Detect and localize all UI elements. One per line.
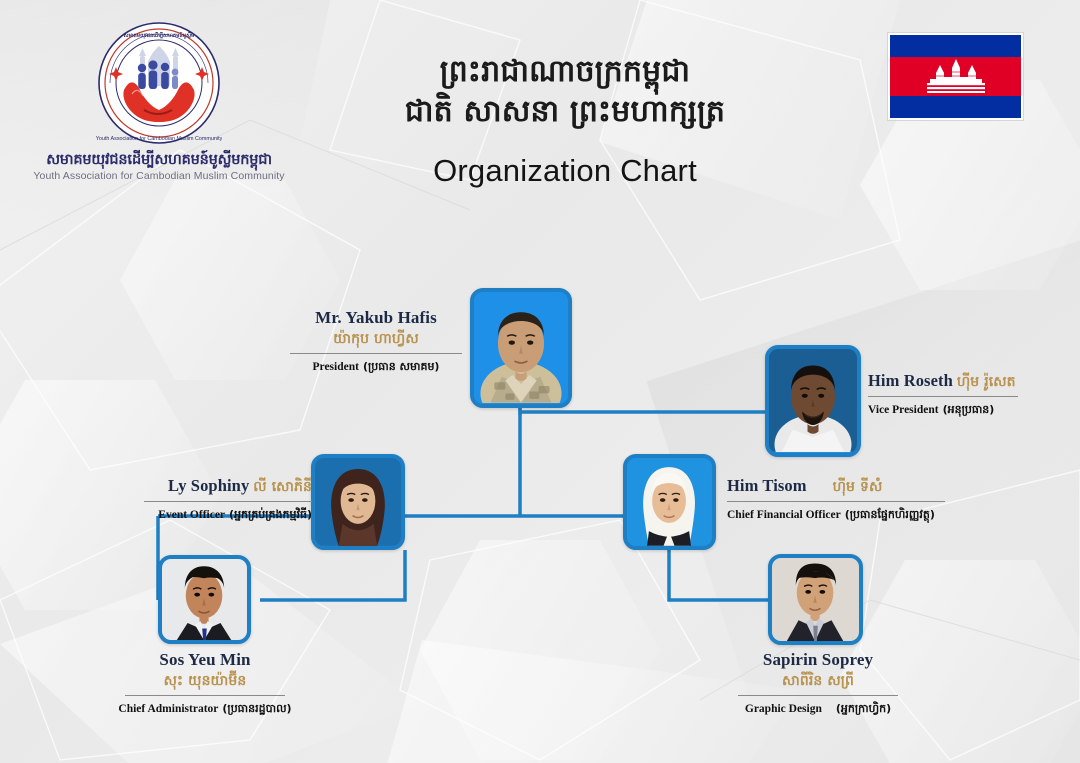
photo-cfo — [623, 454, 716, 550]
photo-chief-administrator — [158, 555, 251, 644]
graphic-design-name-kh: សាពីរិន សព្រី — [705, 671, 931, 692]
cfo-role: Chief Financial Officer (ប្រធានផ្នែកហិរញ… — [727, 505, 967, 524]
vice-president-role-en: Vice President — [868, 404, 939, 416]
cfo-name-kh: ហ៊ីម ទីសំ — [833, 479, 883, 495]
event-officer-role-kh: (អ្នកគ្រប់គ្រងកម្មវិធី) — [229, 508, 312, 521]
label-graphic-design: Sapirin Soprey សាពីរិន សព្រី Graphic Des… — [705, 650, 931, 718]
flag-stripe-middle — [890, 57, 1021, 97]
cfo-name-en: Him Tisom — [727, 476, 807, 495]
chief-administrator-role-en: Chief Administrator — [118, 703, 218, 715]
cfo-role-en: Chief Financial Officer — [727, 509, 841, 521]
graphic-design-name-en: Sapirin Soprey — [705, 650, 931, 670]
photo-graphic-design — [768, 554, 863, 645]
event-officer-name-en: Ly Sophiny — [168, 476, 249, 495]
photo-event-officer — [311, 454, 405, 550]
event-officer-name-kh: លី សោភិនី — [253, 479, 312, 495]
president-name-kh: យ៉ាកុប ហាហ្វីស — [290, 329, 462, 350]
organization-chart: Mr. Yakub Hafis យ៉ាកុប ហាហ្វីស President… — [0, 240, 1080, 763]
flag-stripe-top — [890, 35, 1021, 57]
vice-president-role-kh: (អនុប្រធាន) — [943, 403, 995, 416]
title-kh-line2: ជាតិ សាសនា ព្រះមហាក្សត្រ — [330, 92, 800, 132]
president-name-en: Mr. Yakub Hafis — [290, 308, 462, 328]
chief-administrator-role: Chief Administrator (ប្រធានរដ្ឋបាល) — [92, 699, 318, 718]
chief-administrator-name-en: Sos Yeu Min — [92, 650, 318, 670]
label-president: Mr. Yakub Hafis យ៉ាកុប ហាហ្វីស President… — [290, 308, 462, 376]
label-chief-administrator: Sos Yeu Min សុះ យុនយ៉ាម៊ីន Chief Adminis… — [92, 650, 318, 718]
vice-president-name-kh: ហ៊ីម រ៉ូសេត — [957, 374, 1016, 390]
president-role-kh: (ប្រធាន សមាគម) — [363, 360, 440, 373]
cfo-name: Him Tisom ហ៊ីម ទីសំ — [727, 476, 967, 498]
label-event-officer: Ly Sophiny លី សោភិនី Event Officer (អ្នក… — [136, 476, 312, 524]
logo-name-kh: សមាគមយុវជនដើម្បីសហគមន៍មូស្លីមកម្ពុជា — [28, 152, 290, 169]
label-divider — [738, 695, 898, 696]
label-divider — [125, 695, 285, 696]
president-role: President (ប្រធាន សមាគម) — [290, 357, 462, 376]
svg-text:Youth Association for Cambodia: Youth Association for Cambodian Muslim C… — [96, 136, 222, 142]
photo-vice-president — [765, 345, 861, 457]
graphic-design-role-en: Graphic Design — [745, 703, 822, 715]
cfo-role-kh: (ប្រធានផ្នែកហិរញ្ញវត្ថុ) — [845, 508, 935, 521]
event-officer-role-en: Event Officer — [158, 509, 225, 521]
cambodia-flag-icon — [887, 32, 1024, 121]
logo-name-en: Youth Association for Cambodian Muslim C… — [28, 170, 290, 182]
yacmc-logo-icon: សមាគមយុវជនដើម្បីសហគមន៍មូស្លីម Youth Asso… — [96, 20, 222, 146]
title-en: Organization Chart — [330, 153, 800, 189]
label-divider — [144, 501, 312, 502]
label-divider — [727, 501, 945, 502]
page-header: សមាគមយុវជនដើម្បីសហគមន៍មូស្លីម Youth Asso… — [0, 0, 1080, 240]
chief-administrator-name-kh: សុះ យុនយ៉ាម៊ីន — [92, 671, 318, 692]
svg-text:សមាគមយុវជនដើម្បីសហគមន៍មូស្លីម: សមាគមយុវជនដើម្បីសហគមន៍មូស្លីម — [124, 31, 195, 39]
graphic-design-role: Graphic Design (អ្នកក្រាហ្វិក) — [705, 699, 931, 718]
event-officer-name: Ly Sophiny លី សោភិនី — [136, 476, 312, 498]
vice-president-name: Him Roseth ហ៊ីម រ៉ូសេត — [868, 371, 1078, 393]
vice-president-role: Vice President (អនុប្រធាន) — [868, 400, 1078, 419]
flag-stripe-bottom — [890, 96, 1021, 118]
graphic-design-role-kh: (អ្នកក្រាហ្វិក) — [836, 702, 891, 715]
label-vice-president: Him Roseth ហ៊ីម រ៉ូសេត Vice President (អ… — [868, 371, 1078, 419]
organization-logo-block: សមាគមយុវជនដើម្បីសហគមន៍មូស្លីម Youth Asso… — [28, 20, 290, 182]
president-role-en: President — [313, 361, 359, 373]
photo-president — [470, 288, 572, 408]
event-officer-role: Event Officer (អ្នកគ្រប់គ្រងកម្មវិធី) — [136, 505, 312, 524]
page-title: ព្រះរាជាណាចក្រកម្ពុជា ជាតិ សាសនា ព្រះមហា… — [330, 52, 800, 189]
angkor-wat-emblem — [925, 57, 987, 95]
label-divider — [290, 353, 462, 354]
label-cfo: Him Tisom ហ៊ីម ទីសំ Chief Financial Offi… — [727, 476, 967, 524]
label-divider — [868, 396, 1018, 397]
vice-president-name-en: Him Roseth — [868, 371, 953, 390]
chief-administrator-role-kh: (ប្រធានរដ្ឋបាល) — [222, 702, 291, 715]
title-kh-line1: ព្រះរាជាណាចក្រកម្ពុជា — [330, 52, 800, 92]
